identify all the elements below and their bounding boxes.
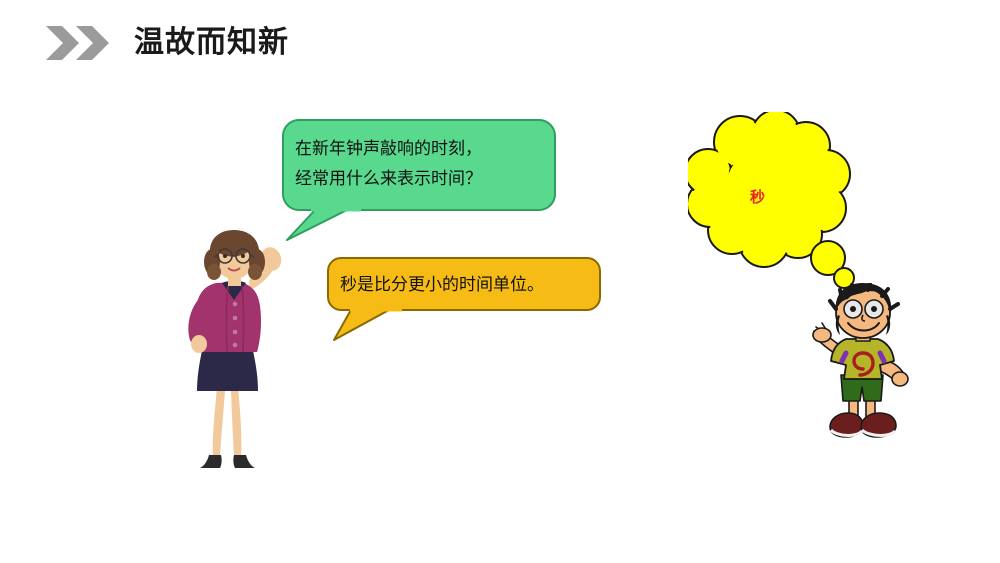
teacher-answer-bubble: 秒是比分更小的时间单位。 bbox=[326, 256, 602, 344]
bubble-line: 秒是比分更小的时间单位。 bbox=[340, 270, 602, 300]
page-title: 温故而知新 bbox=[134, 28, 289, 58]
bubble-line: 经常用什么来表示时间？ bbox=[295, 164, 557, 194]
teacher-illustration bbox=[176, 228, 292, 470]
thought-cloud-text: 秒 bbox=[750, 190, 765, 205]
student-illustration bbox=[806, 283, 920, 447]
teacher-answer-text: 秒是比分更小的时间单位。 bbox=[326, 256, 602, 300]
student-thought-cloud bbox=[688, 112, 868, 297]
double-chevron-right-icon bbox=[46, 24, 112, 62]
teacher-question-bubble: 在新年钟声敲响的时刻， 经常用什么来表示时间？ bbox=[281, 118, 557, 244]
teacher-question-text: 在新年钟声敲响的时刻， 经常用什么来表示时间？ bbox=[281, 118, 557, 194]
slide-header: 温故而知新 bbox=[46, 24, 289, 62]
slide-canvas: 温故而知新 bbox=[0, 0, 1000, 563]
bubble-line: 在新年钟声敲响的时刻， bbox=[295, 134, 557, 164]
